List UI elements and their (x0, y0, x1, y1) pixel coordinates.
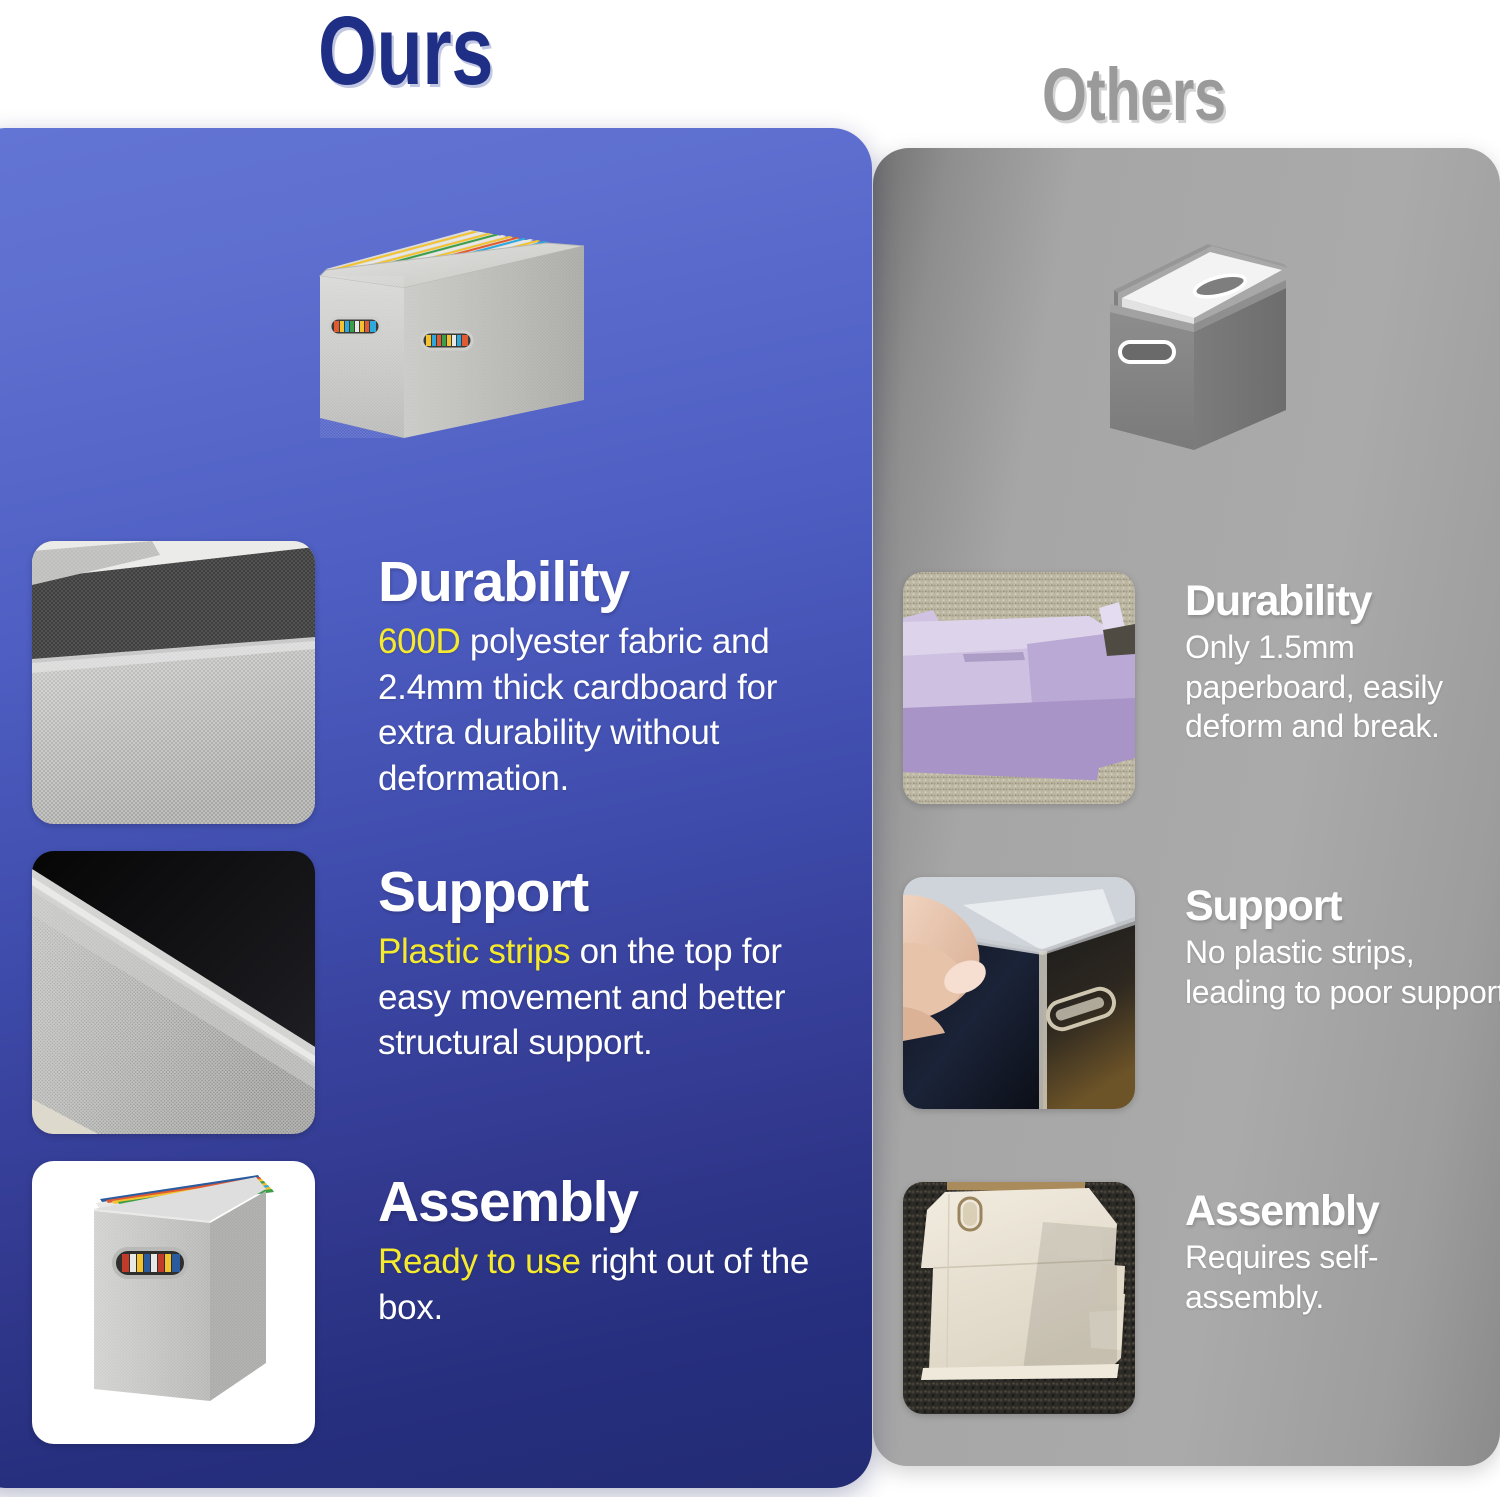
feature-title: Support (378, 863, 848, 921)
feature-description: No plastic strips, leading to poor suppo… (1185, 933, 1500, 1012)
ours-feature-text: Durability 600D polyester fabric and 2.4… (378, 541, 848, 801)
others-feature-text: Durability Only 1.5mm paperboard, easily… (1185, 572, 1500, 747)
thumb-fabric-corner-closeup (32, 541, 315, 824)
highlight-text: Plastic strips (378, 932, 570, 971)
ours-feature-text: Support Plastic strips on the top for ea… (378, 851, 848, 1066)
fabric-corner-closeup-image (32, 541, 315, 824)
assembled-box-white-bg-image (32, 1161, 315, 1444)
others-feature-row: Durability Only 1.5mm paperboard, easily… (903, 572, 1500, 804)
feature-title: Durability (1185, 580, 1500, 624)
feature-description: Ready to use right out of the box. (378, 1239, 848, 1330)
ours-feature-text: Assembly Ready to use right out of the b… (378, 1161, 848, 1330)
others-feature-text: Support No plastic strips, leading to po… (1185, 877, 1500, 1012)
ours-feature-row: Support Plastic strips on the top for ea… (32, 851, 848, 1134)
flat-packed-cardboard-image (903, 1182, 1135, 1414)
thumb-hand-gripping-box-corner (903, 877, 1135, 1109)
others-heading: Others (1042, 58, 1226, 132)
thumb-plastic-strip-rim-closeup (32, 851, 315, 1134)
highlight-text: 600D (378, 622, 460, 661)
thumb-assembled-box-on-white (32, 1161, 315, 1444)
feature-title: Assembly (378, 1173, 848, 1231)
ours-feature-row: Assembly Ready to use right out of the b… (32, 1161, 848, 1444)
ours-feature-row: Durability 600D polyester fabric and 2.4… (32, 541, 848, 824)
feature-title: Durability (378, 553, 848, 611)
feature-description: Plastic strips on the top for easy movem… (378, 929, 848, 1066)
deformed-purple-box-image (903, 572, 1135, 804)
others-hero-product-image (1062, 238, 1338, 478)
others-feature-row: Support No plastic strips, leading to po… (903, 877, 1500, 1109)
feature-title: Support (1185, 885, 1500, 929)
highlight-text: Ready to use (378, 1242, 581, 1281)
plastic-strip-rim-image (32, 851, 315, 1134)
plain-gray-box-icon (1062, 238, 1338, 478)
gray-fabric-file-box-icon (292, 222, 592, 474)
feature-description: Only 1.5mm paperboard, easily deform and… (1185, 628, 1500, 747)
feature-description: 600D polyester fabric and 2.4mm thick ca… (378, 619, 848, 801)
feature-description: Requires self-assembly. (1185, 1238, 1500, 1317)
thumb-flat-packed-cardboard (903, 1182, 1135, 1414)
ours-heading: Ours (318, 2, 493, 99)
ours-hero-product-image (292, 222, 592, 474)
others-feature-text: Assembly Requires self-assembly. (1185, 1182, 1500, 1317)
feature-title: Assembly (1185, 1190, 1500, 1234)
thumb-deformed-purple-box (903, 572, 1135, 804)
others-feature-row: Assembly Requires self-assembly. (903, 1182, 1500, 1414)
hand-gripping-box-corner-image (903, 877, 1135, 1109)
